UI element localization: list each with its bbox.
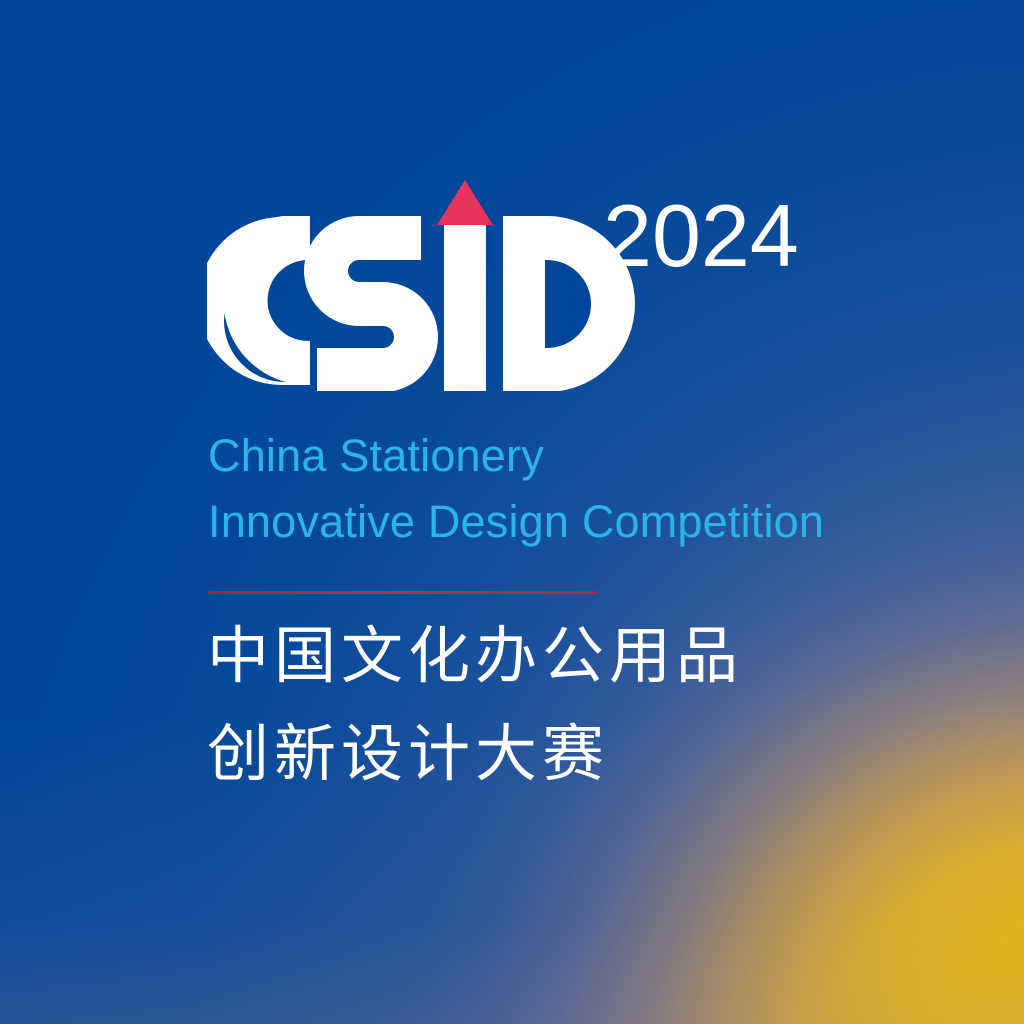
logo-letter-c-top-terminal (286, 216, 310, 260)
poster-content: 2024 China Stationery Innovative Design … (207, 0, 967, 1024)
subtitle-line-2: Innovative Design Competition (208, 499, 824, 544)
logo-letter-s-bottom-bar (317, 348, 383, 391)
csid-logo: 2024 (207, 176, 807, 391)
crimson-divider (208, 591, 597, 594)
logo-letter-i (444, 224, 486, 391)
logo-year: 2024 (603, 186, 799, 285)
pencil-tip-icon (437, 180, 493, 225)
poster-canvas: 2024 China Stationery Innovative Design … (0, 0, 1024, 1024)
logo-letter-s-top-bar (359, 216, 421, 260)
chinese-title-line-1: 中国文化办公用品 (207, 625, 743, 687)
subtitle-line-1: China Stationery (208, 433, 544, 478)
csid-logo-svg: 2024 (207, 176, 807, 391)
chinese-title-line-2: 创新设计大赛 (207, 723, 609, 785)
logo-letter-c-bottom-terminal (286, 341, 310, 385)
